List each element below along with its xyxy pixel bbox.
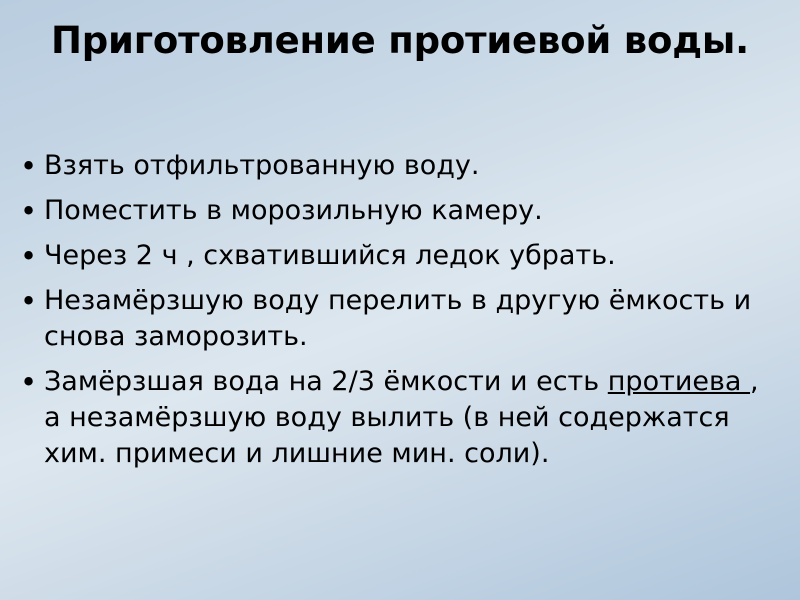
- list-item-text: Поместить в морозильную камеру.: [44, 193, 778, 229]
- list-item-text-underlined: протиева: [608, 366, 750, 397]
- list-item: • Поместить в морозильную камеру.: [16, 193, 778, 229]
- list-item: • Через 2 ч , схватившийся ледок убрать.: [16, 238, 778, 274]
- list-item-text-part-1: Замёрзшая вода на 2/3 ёмкости и есть: [44, 366, 608, 397]
- bullet-marker-icon: •: [16, 283, 44, 319]
- bullet-list: • Взять отфильтрованную воду. • Поместит…: [16, 148, 778, 481]
- bullet-marker-icon: •: [16, 148, 44, 184]
- list-item: • Взять отфильтрованную воду.: [16, 148, 778, 184]
- slide: Приготовление протиевой воды. • Взять от…: [0, 0, 800, 600]
- list-item-text: Замёрзшая вода на 2/3 ёмкости и есть про…: [44, 364, 778, 472]
- list-item: • Замёрзшая вода на 2/3 ёмкости и есть п…: [16, 364, 778, 472]
- list-item-text: Незамёрзшую воду перелить в другую ёмкос…: [44, 283, 778, 355]
- bullet-marker-icon: •: [16, 238, 44, 274]
- bullet-marker-icon: •: [16, 193, 44, 229]
- page-title: Приготовление протиевой воды.: [40, 18, 760, 63]
- bullet-marker-icon: •: [16, 364, 44, 400]
- list-item-text: Взять отфильтрованную воду.: [44, 148, 778, 184]
- list-item-text: Через 2 ч , схватившийся ледок убрать.: [44, 238, 778, 274]
- list-item: • Незамёрзшую воду перелить в другую ёмк…: [16, 283, 778, 355]
